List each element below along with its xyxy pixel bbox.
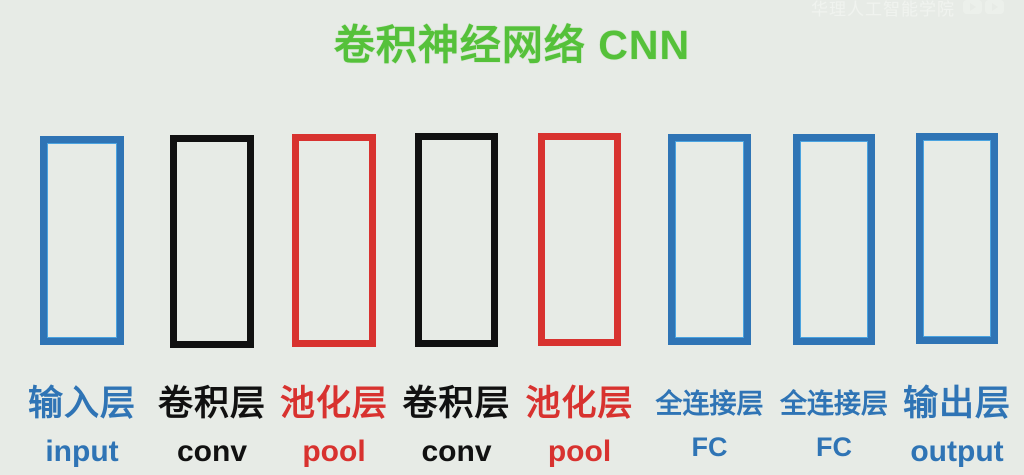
layer-label-en-output: output — [910, 437, 1003, 467]
layer-box-fc2 — [793, 134, 875, 345]
layer-label-en-fc1: FC — [692, 434, 728, 461]
layer-box-pool2 — [538, 133, 621, 346]
layer-label-en-pool1: pool — [302, 437, 365, 467]
slide-canvas: 华理人工智能学院 卷积神经网络 CNN 输入层input卷积层conv池化层po… — [0, 0, 1024, 475]
layer-label-en-fc2: FC — [816, 434, 852, 461]
layer-label-cn-output: 输出层 — [903, 386, 1011, 421]
layer-label-cn-pool1: 池化层 — [280, 386, 388, 421]
layer-label-cn-conv1: 卷积层 — [158, 386, 266, 421]
layer-box-fc1 — [668, 134, 751, 345]
layer-label-cn-conv2: 卷积层 — [402, 386, 510, 421]
layer-box-pool1 — [292, 134, 376, 347]
layer-label-en-pool2: pool — [548, 437, 611, 467]
layer-label-en-conv2: conv — [421, 437, 491, 467]
layer-label-cn-fc1: 全连接层 — [656, 391, 764, 418]
layer-box-input — [40, 136, 124, 345]
layer-box-conv2 — [415, 133, 498, 347]
layer-label-cn-input: 输入层 — [28, 386, 136, 421]
layer-label-en-conv1: conv — [177, 437, 247, 467]
layer-box-output — [916, 133, 998, 344]
cnn-architecture-diagram: 输入层input卷积层conv池化层pool卷积层conv池化层pool全连接层… — [0, 0, 1024, 475]
layer-label-en-input: input — [45, 437, 118, 467]
layer-label-cn-fc2: 全连接层 — [780, 391, 888, 418]
layer-label-cn-pool2: 池化层 — [525, 386, 633, 421]
layer-box-conv1 — [170, 135, 254, 348]
